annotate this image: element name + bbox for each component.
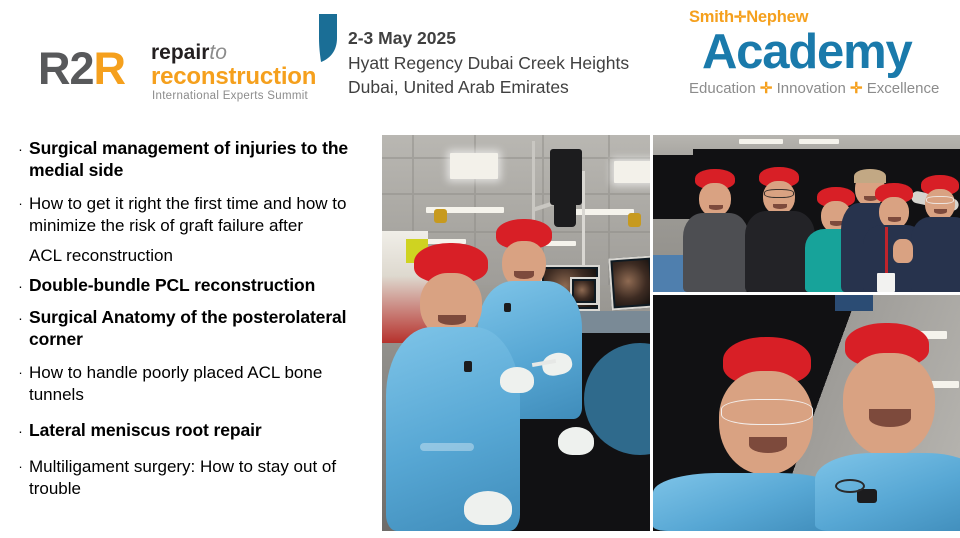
topic-bullet-list: · Surgical management of injuries to the… — [12, 138, 377, 502]
face — [763, 181, 795, 215]
r2r-word-to: to — [209, 41, 227, 64]
ceiling-light-panel — [614, 161, 650, 183]
ceiling-mount-box — [628, 213, 641, 227]
spacer — [12, 352, 377, 362]
ceiling-light-strip — [799, 139, 839, 144]
ceiling-mount-box — [434, 209, 447, 223]
plus-icon-1: ✛ — [760, 80, 773, 97]
smile — [869, 409, 911, 427]
r2r-subtitle: International Experts Summit — [151, 89, 316, 103]
faculty-member — [683, 169, 749, 292]
bullet-glyph: · — [12, 362, 29, 384]
gloved-hand — [464, 491, 512, 525]
bullet-glyph: · — [12, 193, 29, 215]
list-item: · How to get it right the first time and… — [12, 193, 377, 237]
smile — [888, 217, 901, 222]
bullet-glyph: · — [12, 420, 29, 442]
r2r-word-repair: repair — [151, 41, 209, 64]
spacer — [12, 444, 377, 456]
bullet-text-continuation: ACL reconstruction — [12, 245, 377, 267]
blue-surgical-gown — [815, 453, 960, 531]
bullet-text: Double-bundle PCL reconstruction — [29, 275, 377, 297]
tagline-innovation: Innovation — [777, 80, 846, 97]
gloved-hand — [500, 367, 534, 393]
photo-collage — [382, 135, 960, 531]
eyeglasses-icon — [764, 189, 794, 198]
smile — [709, 205, 723, 210]
academy-wordmark: Academy — [702, 26, 912, 78]
operating-room-two-surgeons-photo — [382, 135, 650, 531]
surgeon-selfie-right — [831, 323, 960, 531]
smile — [934, 209, 947, 214]
photo-scene — [653, 135, 960, 292]
bullet-text: Surgical Anatomy of the posterolateral c… — [29, 307, 377, 350]
r2r-monogram-right: R — [94, 43, 126, 94]
spacer — [12, 267, 377, 275]
teal-sail-accent-icon — [318, 14, 340, 62]
slide-header: R2R repairto reconstruction Internationa… — [0, 0, 960, 118]
faculty-group-photo — [653, 135, 960, 292]
event-city-country: Dubai, United Arab Emirates — [348, 75, 629, 100]
list-item: · Surgical Anatomy of the posterolateral… — [12, 307, 377, 350]
list-item: · How to handle poorly placed ACL bone t… — [12, 362, 377, 406]
surgeon-figure-front — [386, 243, 520, 531]
navy-scrub-top — [911, 217, 960, 292]
eyeglasses-icon — [721, 399, 813, 425]
event-venue: Hyatt Regency Dubai Creek Heights — [348, 51, 629, 76]
clip-microphone — [464, 361, 472, 372]
slide-canvas: R2R repairto reconstruction Internationa… — [0, 0, 960, 538]
tagline-education: Education — [689, 80, 756, 97]
academy-tagline: Education ✛ Innovation ✛ Excellence — [689, 80, 939, 98]
event-dates: 2-3 May 2025 — [348, 26, 629, 51]
id-badge — [877, 273, 895, 292]
boom-camera-head — [550, 149, 582, 205]
list-item: · Lateral meniscus root repair — [12, 420, 377, 442]
thumbs-up-hand — [893, 239, 913, 263]
eyeglasses-icon — [926, 196, 954, 204]
two-surgeons-selfie-photo — [653, 295, 960, 531]
bullet-glyph: · — [12, 275, 29, 297]
bullet-text: Surgical management of injuries to the m… — [29, 138, 377, 181]
face — [843, 353, 935, 457]
list-item: · Surgical management of injuries to the… — [12, 138, 377, 181]
tagline-excellence: Excellence — [867, 80, 940, 97]
plus-icon-2: ✛ — [850, 80, 863, 97]
bullet-text: Lateral meniscus root repair — [29, 420, 377, 442]
spacer — [12, 183, 377, 193]
monitor-image — [613, 260, 650, 306]
glasses-hanging — [835, 479, 865, 493]
r2r-wordmark: repairto reconstruction International Ex… — [151, 42, 316, 103]
list-item: · Multiligament surgery: How to stay out… — [12, 456, 377, 500]
smith-nephew-academy-logo: Smith✛Nephew Academy Education ✛ Innovat… — [688, 8, 956, 102]
r2r-monogram-left: R2 — [38, 43, 94, 94]
spacer — [12, 299, 377, 307]
event-details: 2-3 May 2025 Hyatt Regency Dubai Creek H… — [348, 26, 629, 100]
ceiling-light-panel — [450, 153, 498, 179]
background-scrub-figure — [835, 295, 873, 311]
bullet-text: How to get it right the first time and h… — [29, 193, 377, 237]
r2r-monogram: R2R — [38, 46, 125, 91]
bullet-text: Multiligament surgery: How to stay out o… — [29, 456, 377, 500]
gloved-hand — [558, 427, 594, 455]
hair — [854, 169, 886, 183]
photo-scene — [653, 295, 960, 531]
bullet-glyph: · — [12, 138, 29, 160]
bullet-glyph: · — [12, 456, 29, 478]
list-item: · Double-bundle PCL reconstruction — [12, 275, 377, 297]
ceiling-light-strip — [739, 139, 783, 144]
r2r-logo: R2R repairto reconstruction Internationa… — [38, 42, 328, 104]
gown-tie — [420, 443, 474, 451]
r2r-word-reconstruction: reconstruction — [151, 64, 316, 89]
grey-scrub-top — [683, 213, 749, 292]
lanyard — [885, 227, 888, 275]
surgeon-smile — [438, 315, 466, 325]
smile — [773, 204, 787, 209]
face — [699, 183, 731, 217]
bullet-glyph: · — [12, 307, 29, 329]
spacer — [12, 408, 377, 420]
photo-scene — [382, 135, 650, 531]
arthroscopy-monitor — [608, 256, 650, 311]
r2r-tagline-line1: repairto — [151, 42, 316, 64]
smile — [749, 437, 787, 453]
faculty-member — [911, 175, 960, 292]
bullet-text: How to handle poorly placed ACL bone tun… — [29, 362, 377, 406]
